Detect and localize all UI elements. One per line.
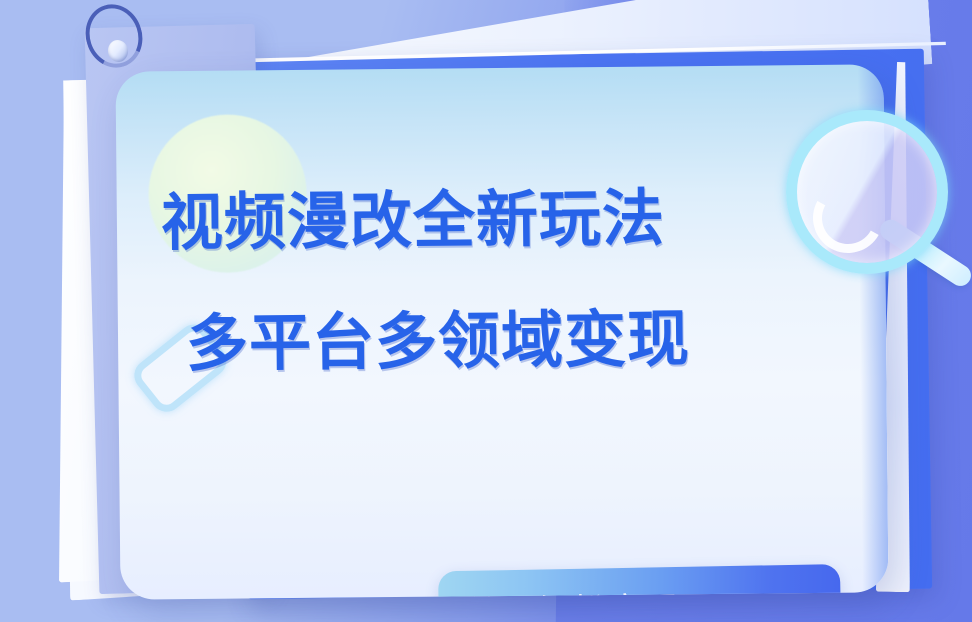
promo-poster: 视频漫改全新玩法 多平台多领域变现 单日轻松变现300 ＋ [0,0,972,622]
headline-line-1: 视频漫改全新玩法 [161,185,862,257]
headline-line-2: 多平台多领域变现 [186,306,863,378]
magnifier-lens [786,110,948,274]
headline-block: 视频漫改全新玩法 多平台多领域变现 [161,185,863,378]
magnifier-glint [805,175,892,262]
main-card: 视频漫改全新玩法 多平台多领域变现 单日轻松变现300 ＋ [115,64,888,599]
magnifier-icon [786,110,954,286]
